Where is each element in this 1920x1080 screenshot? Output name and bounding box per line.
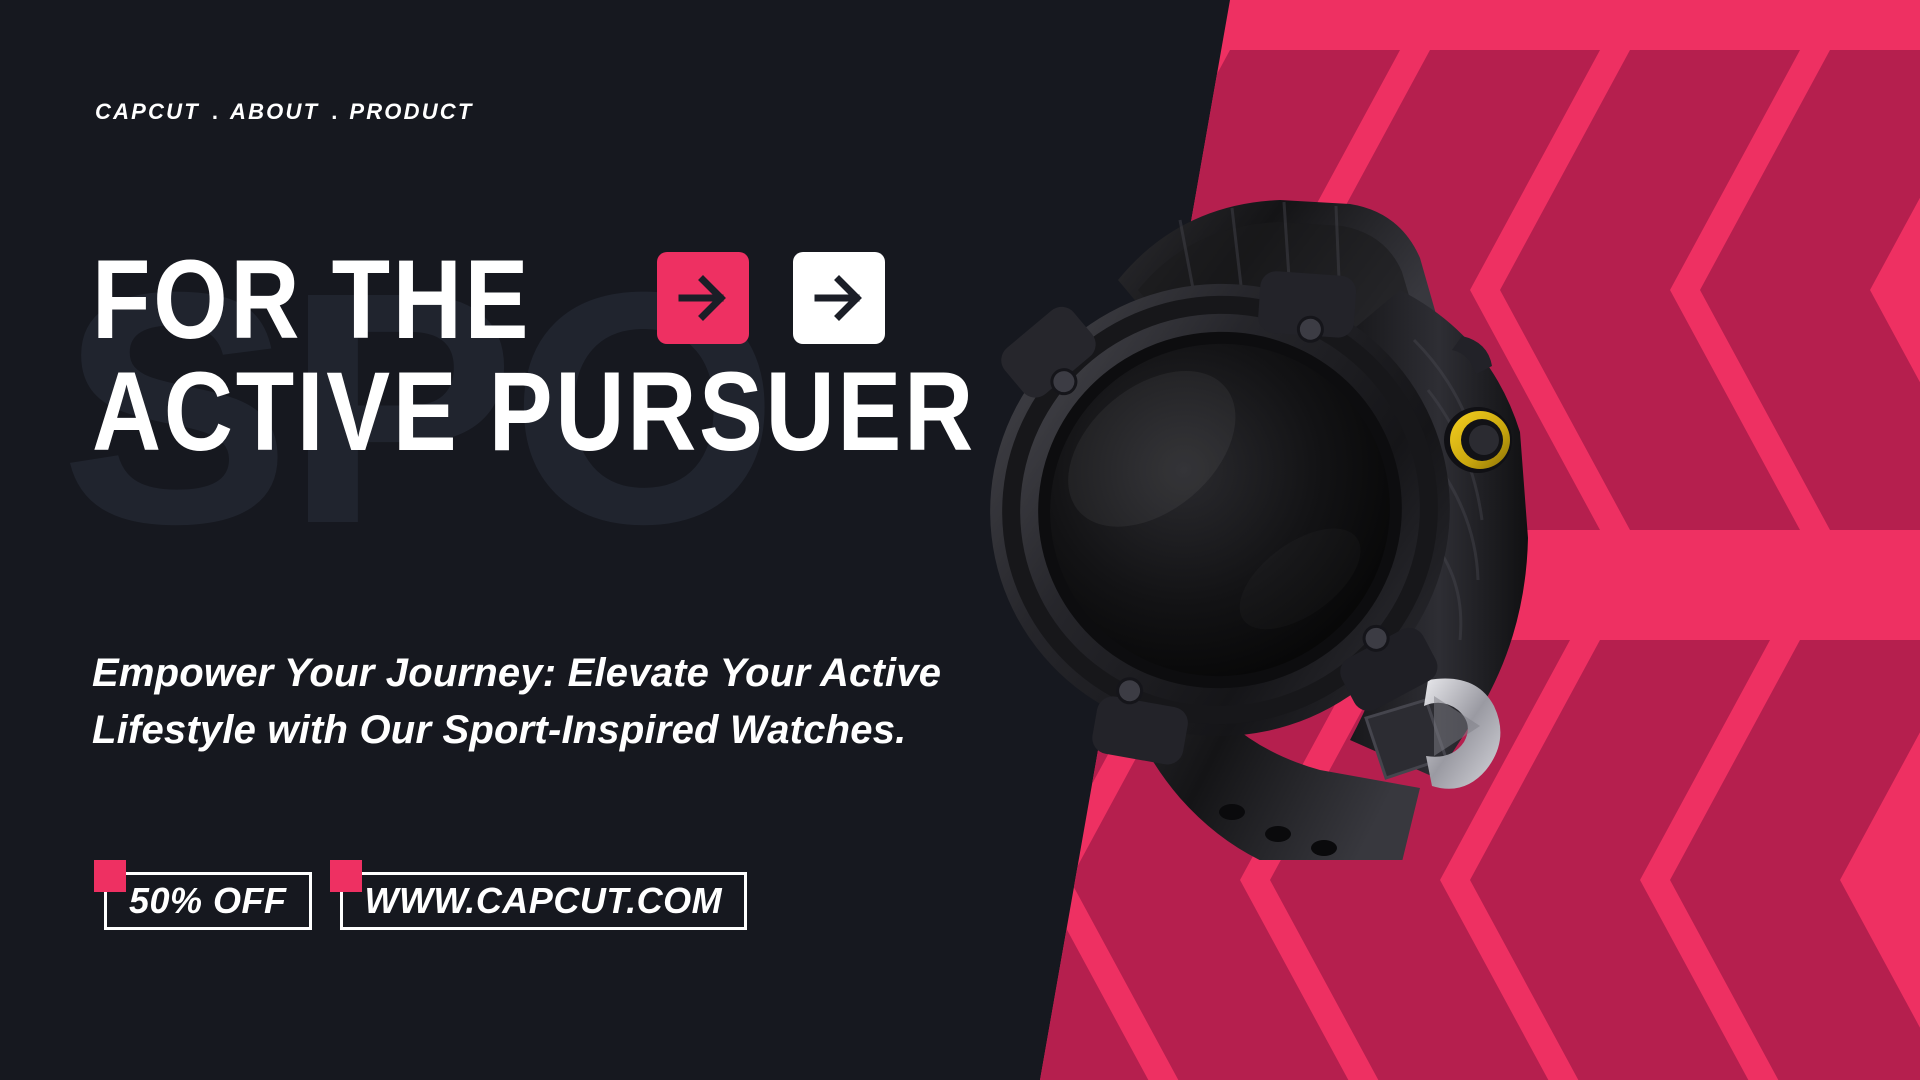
subtitle-line-2: Lifestyle with Our Sport-Inspired Watche… xyxy=(92,702,852,759)
website-badge-label: WWW.CAPCUT.COM xyxy=(365,880,723,922)
headline-row-1: FOR THE xyxy=(92,247,1053,353)
secondary-arrow-button[interactable] xyxy=(793,252,885,344)
headline-line-2: ACTIVE PURSUER xyxy=(92,355,976,470)
nav-item-product[interactable]: PRODUCT xyxy=(349,99,473,125)
website-badge-box[interactable]: WWW.CAPCUT.COM xyxy=(340,872,748,930)
arrow-right-icon xyxy=(812,271,866,325)
nav-item-about[interactable]: ABOUT xyxy=(230,99,319,125)
arrow-right-icon xyxy=(676,271,730,325)
arrow-button-group xyxy=(657,252,885,344)
nav-item-capcut[interactable]: CAPCUT xyxy=(95,99,200,125)
subtitle-text: Empower Your Journey: Elevate Your Activ… xyxy=(92,645,852,759)
top-navigation: CAPCUT . ABOUT . PRODUCT xyxy=(95,99,474,125)
discount-badge-label: 50% OFF xyxy=(129,880,287,922)
discount-badge[interactable]: 50% OFF xyxy=(94,860,312,930)
badge-corner-square xyxy=(94,860,126,892)
subtitle-line-1: Empower Your Journey: Elevate Your Activ… xyxy=(92,645,852,702)
headline-line-1: FOR THE xyxy=(92,243,531,358)
nav-separator: . xyxy=(200,99,230,125)
watch-crown xyxy=(1444,407,1512,473)
bottom-badge-row: 50% OFF WWW.CAPCUT.COM xyxy=(94,860,747,930)
primary-arrow-button[interactable] xyxy=(657,252,749,344)
promo-banner: SPO xyxy=(0,0,1920,1080)
nav-separator: . xyxy=(319,99,349,125)
discount-badge-box[interactable]: 50% OFF xyxy=(104,872,312,930)
headline-block: FOR THE ACTIVE PURSUER xyxy=(92,247,1053,465)
badge-corner-square xyxy=(330,860,362,892)
website-badge[interactable]: WWW.CAPCUT.COM xyxy=(330,860,748,930)
